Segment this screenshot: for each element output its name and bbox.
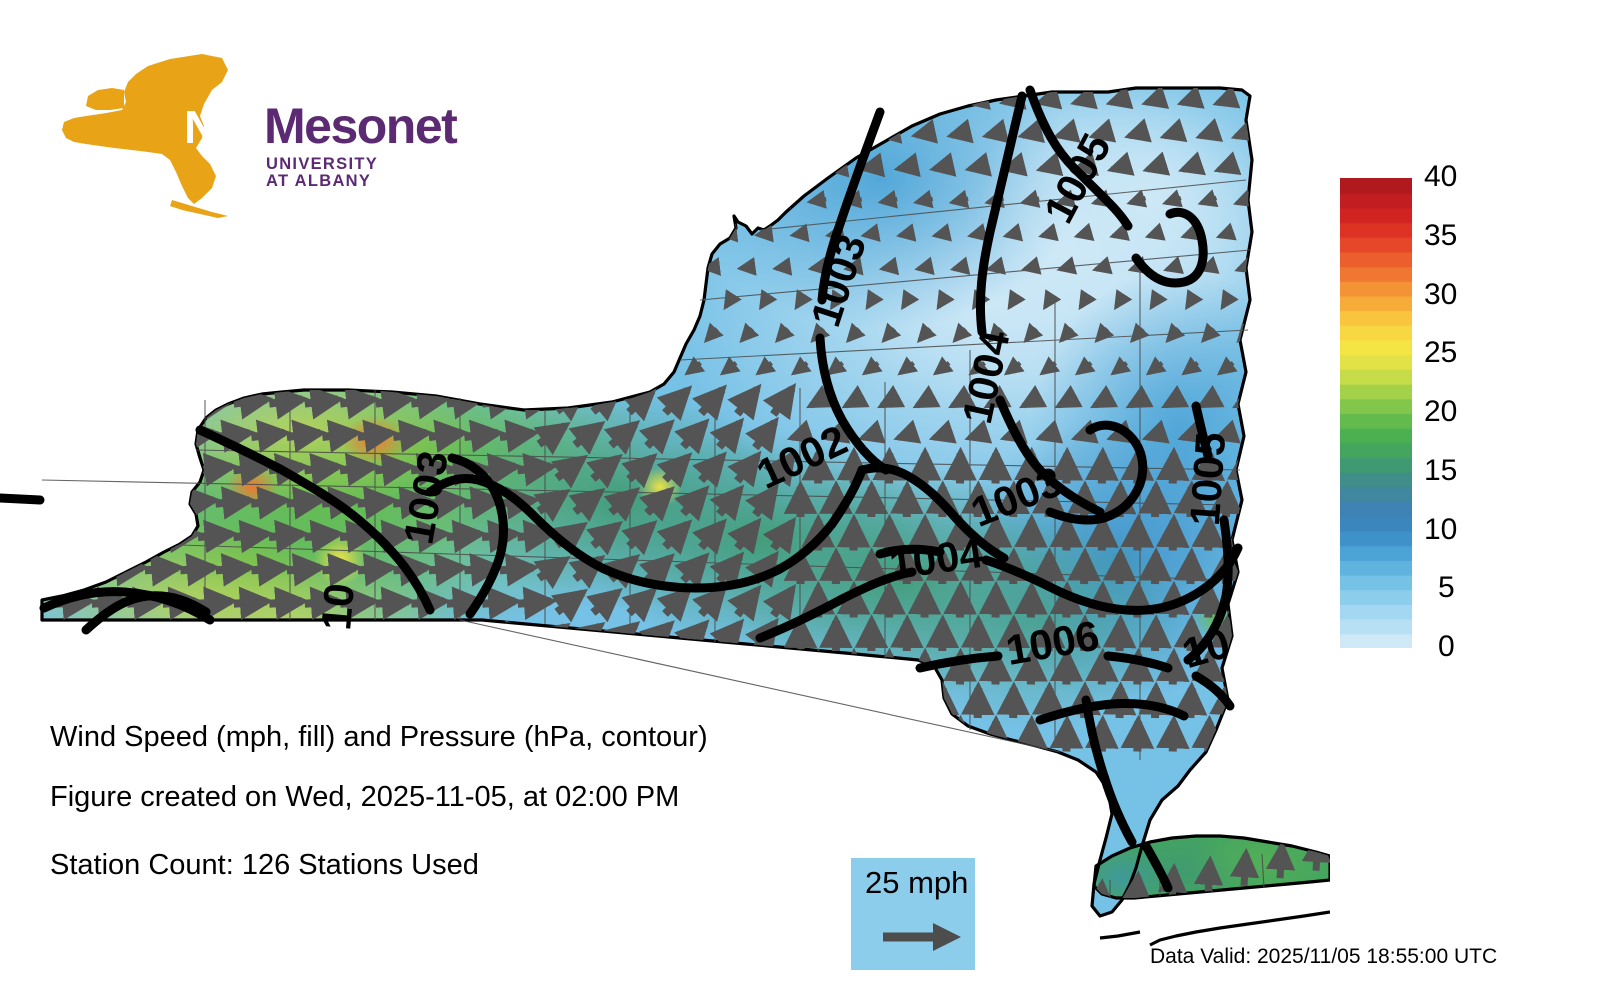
wind-arrow — [569, 195, 570, 206]
wind-arrow — [216, 635, 249, 637]
new-york-state-map: 1005100310041005100210031003101004100610 — [0, 0, 1330, 960]
wind-arrow — [413, 131, 443, 137]
wind-arrow — [1190, 688, 1191, 718]
wind-arrow — [1280, 846, 1282, 878]
wind-arrow — [110, 635, 143, 637]
wind-arrow — [518, 601, 551, 603]
wind-arrow — [287, 433, 320, 437]
wind-arrow — [359, 231, 390, 236]
wind-arrow — [271, 131, 301, 137]
wind-arrow — [323, 366, 356, 370]
wind-arrow — [1208, 588, 1209, 618]
wind-arrow — [667, 133, 686, 135]
wind-arrow — [129, 131, 159, 137]
wind-arrow — [883, 266, 897, 269]
wind-arrow — [704, 200, 720, 202]
wind-arrow — [655, 295, 663, 307]
wind-arrow — [56, 534, 90, 537]
wind-arrow — [181, 231, 212, 236]
wind-arrow — [448, 265, 480, 270]
wind-arrow — [164, 131, 194, 137]
wind-arrow — [918, 266, 932, 269]
wind-arrow — [1173, 655, 1174, 685]
wind-arrow — [252, 635, 285, 637]
wind-arrow — [1137, 722, 1138, 752]
wind-arrow — [791, 99, 811, 102]
wind-arrow — [252, 366, 285, 370]
wind-arrow — [127, 534, 161, 537]
wind-arrow — [519, 198, 550, 204]
wind-arrow — [305, 399, 338, 403]
wind-arrow — [793, 233, 808, 235]
wind-arrow — [519, 131, 549, 137]
wind-arrow — [1244, 454, 1245, 484]
wind-arrow — [218, 97, 248, 103]
wind-arrow — [483, 265, 515, 270]
colorbar-tick-20: 20 — [1424, 397, 1457, 427]
wind-arrow — [323, 702, 355, 704]
wind-arrow — [358, 568, 391, 571]
colorbar-tick-40: 40 — [1424, 162, 1457, 192]
wind-arrow — [287, 500, 321, 503]
wind-arrow — [518, 534, 552, 537]
wind-arrow — [288, 702, 320, 704]
wind-arrow — [74, 366, 107, 370]
wind-arrow — [545, 363, 558, 373]
wind-arrow — [900, 233, 915, 236]
wind-arrow — [584, 295, 592, 307]
wind-arrow — [464, 500, 498, 503]
wind-arrow — [685, 166, 702, 168]
wind-arrow — [996, 588, 997, 618]
wind-arrow — [164, 265, 196, 270]
wind-arrow — [376, 399, 409, 403]
wind-arrow — [651, 233, 666, 234]
wind-arrow — [75, 702, 107, 704]
wind-arrow — [1173, 722, 1174, 752]
wind-arrow — [376, 467, 410, 471]
wind-arrow — [147, 97, 177, 103]
wind-arrow — [989, 266, 1002, 269]
wind-arrow — [340, 534, 374, 537]
wind-arrow — [518, 669, 550, 671]
wind-arrow — [483, 198, 514, 204]
wind-arrow — [575, 693, 600, 713]
wind-arrow — [482, 467, 516, 471]
wind-arrow — [127, 467, 161, 471]
wind-arrow — [482, 601, 515, 603]
wind-arrow — [774, 132, 792, 135]
wind-arrow — [430, 164, 461, 170]
wind-arrow — [200, 131, 230, 137]
wind-arrow — [773, 724, 792, 750]
wind-arrow — [1208, 861, 1210, 893]
wind-arrow — [251, 568, 284, 571]
wind-arrow — [466, 97, 496, 103]
wind-arrow — [306, 265, 338, 270]
wind-arrow — [199, 669, 231, 671]
wind-arrow — [323, 635, 356, 637]
wind-arrow — [38, 568, 71, 571]
wind-arrow — [951, 131, 969, 135]
wind-arrow — [235, 198, 266, 204]
wind-arrow — [614, 166, 631, 167]
wind-arrow — [341, 198, 372, 204]
wind-arrow — [269, 399, 302, 403]
wind-arrow — [394, 231, 425, 236]
wind-arrow — [93, 131, 123, 137]
wind-arrow — [163, 399, 196, 403]
wind-arrow — [616, 363, 629, 373]
wind-arrow — [500, 366, 533, 370]
wind-arrow — [465, 702, 497, 704]
wind-arrow — [128, 265, 160, 270]
wind-arrow — [74, 500, 108, 503]
wind-arrow — [340, 399, 373, 403]
wind-arrow — [253, 97, 283, 103]
wind-arrow — [234, 669, 266, 671]
wind-arrow — [289, 97, 319, 103]
wind-arrow — [845, 132, 863, 135]
wind-arrow — [322, 433, 355, 437]
colorbar-tick-35: 35 — [1424, 221, 1457, 251]
wind-arrow — [412, 198, 443, 204]
wind-arrow — [987, 131, 1005, 135]
wind-arrow — [593, 659, 618, 679]
wind-arrow — [501, 231, 532, 236]
wind-arrow — [1155, 554, 1156, 584]
wind-arrow — [270, 198, 301, 204]
wind-arrow — [110, 366, 143, 370]
wind-arrow — [217, 231, 248, 236]
wind-arrow — [198, 399, 231, 403]
wind-arrow — [862, 98, 881, 102]
wind-arrow — [57, 332, 89, 337]
wind-arrow — [826, 98, 845, 101]
colorbar-tick-25: 25 — [1424, 338, 1457, 368]
wind-arrow — [342, 131, 372, 137]
wind-arrow — [1102, 722, 1103, 752]
wind-arrow — [755, 99, 775, 102]
wind-arrow — [935, 232, 950, 235]
wind-arrow — [518, 467, 552, 471]
wind-arrow — [776, 267, 790, 269]
wind-scale-legend: 25 mph — [851, 858, 975, 970]
wind-arrow — [40, 97, 70, 103]
wind-arrow — [1244, 722, 1245, 752]
wind-arrow — [395, 164, 426, 170]
wind-arrow — [251, 500, 285, 503]
wind-arrow — [58, 131, 88, 137]
wind-arrow — [358, 433, 391, 437]
wind-arrow — [634, 267, 648, 268]
wind-arrow — [464, 433, 497, 437]
wind-arrow — [288, 299, 320, 304]
wind-arrow — [145, 500, 179, 503]
wind-arrow — [483, 669, 515, 671]
wind-arrow — [600, 329, 611, 340]
wind-arrow — [75, 231, 106, 236]
wind-arrow — [773, 657, 792, 683]
wind-arrow — [684, 99, 704, 101]
wind-arrow — [287, 568, 320, 571]
wind-arrow — [181, 299, 213, 304]
wind-arrow — [611, 693, 635, 714]
wind-arrow — [359, 164, 390, 170]
wind-arrow — [57, 265, 89, 270]
wind-arrow — [127, 399, 160, 403]
figure-title-caption: Wind Speed (mph, fill) and Pressure (hPa… — [50, 723, 708, 752]
wind-arrow — [217, 299, 249, 304]
wind-arrow — [970, 165, 987, 169]
wind-arrow — [92, 467, 126, 471]
wind-arrow — [182, 164, 213, 170]
wind-arrow — [466, 164, 497, 170]
wind-arrow — [146, 164, 177, 170]
contour-label-10: 10 — [312, 581, 363, 632]
wind-arrow — [1049, 554, 1050, 584]
wind-arrow — [163, 332, 195, 337]
wind-arrow — [163, 669, 195, 671]
wind-arrow — [960, 722, 961, 752]
wind-arrow — [864, 233, 879, 236]
wind-arrow — [40, 164, 71, 170]
wind-arrow — [251, 433, 284, 437]
wind-scale-arrow-icon — [881, 920, 963, 954]
wind-arrow — [596, 133, 615, 134]
colorbar-tick-10: 10 — [1424, 515, 1457, 545]
wind-arrow — [740, 267, 754, 269]
wind-arrow — [1316, 839, 1318, 871]
wind-arrow — [465, 366, 498, 370]
wind-arrow — [305, 669, 337, 671]
wind-arrow — [465, 231, 496, 236]
wind-arrow — [305, 534, 339, 537]
wind-arrow — [580, 234, 595, 235]
wind-arrow — [569, 129, 572, 139]
wind-arrow — [38, 433, 71, 437]
wind-arrow — [74, 568, 107, 571]
wind-arrow — [447, 534, 481, 537]
wind-arrow — [429, 568, 462, 571]
wind-arrow — [360, 97, 390, 103]
wind-arrow — [146, 702, 178, 704]
wind-arrow — [465, 299, 497, 304]
wind-arrow — [146, 231, 177, 236]
wind-arrow — [341, 332, 373, 337]
wind-arrow — [56, 399, 89, 403]
wind-arrow — [111, 164, 142, 170]
wind-arrow — [501, 164, 532, 170]
wind-arrow — [39, 702, 71, 704]
wind-arrow — [252, 231, 283, 236]
wind-arrow — [341, 265, 373, 270]
wind-arrow — [109, 500, 143, 503]
wind-arrow — [235, 265, 267, 270]
wind-arrow — [92, 332, 124, 337]
wind-arrow — [597, 200, 613, 201]
wind-arrow — [539, 694, 565, 712]
wind-arrow — [287, 366, 320, 370]
wind-arrow — [395, 97, 425, 103]
wind-arrow — [1155, 487, 1156, 517]
wind-arrow — [181, 366, 214, 370]
wind-arrow — [128, 669, 160, 671]
wind-arrow — [216, 568, 249, 571]
wind-arrow — [288, 164, 319, 170]
wind-arrow — [430, 702, 462, 704]
wind-arrow — [110, 231, 141, 236]
wind-arrow — [619, 295, 627, 307]
wind-arrow — [652, 363, 665, 373]
wind-arrow — [270, 669, 302, 671]
wind-arrow — [253, 164, 284, 170]
wind-arrow — [412, 265, 444, 270]
wind-arrow — [690, 295, 698, 307]
wind-arrow — [671, 329, 682, 340]
wind-arrow — [359, 702, 391, 704]
colorbar-tick-labels: 4035302520151050 — [1424, 178, 1494, 648]
wind-arrow — [324, 164, 355, 170]
wind-arrow — [668, 200, 684, 202]
wind-arrow — [39, 299, 71, 304]
wind-arrow — [1244, 854, 1246, 886]
wind-arrow — [216, 366, 249, 370]
wind-arrow — [810, 199, 826, 202]
wind-arrow — [484, 131, 514, 137]
wind-arrow — [1173, 454, 1174, 484]
wind-arrow — [340, 467, 374, 471]
wind-arrow — [632, 133, 651, 135]
wind-arrow — [109, 433, 142, 437]
wind-arrow — [217, 164, 248, 170]
wind-arrow — [1013, 688, 1014, 718]
wind-arrow — [39, 231, 70, 236]
wind-arrow — [482, 534, 516, 537]
wind-arrow — [430, 299, 462, 304]
wind-arrow — [613, 99, 633, 101]
wind-arrow — [552, 162, 553, 172]
wind-arrow — [394, 635, 427, 637]
colorbar-tick-30: 30 — [1424, 280, 1457, 310]
wind-arrow — [164, 198, 195, 204]
wind-arrow — [145, 635, 178, 637]
wind-arrow — [270, 265, 302, 270]
wind-arrow — [412, 669, 444, 671]
wind-arrow — [394, 299, 426, 304]
wind-arrow — [252, 299, 284, 304]
wind-arrow — [978, 621, 979, 651]
wind-arrow — [1102, 521, 1103, 551]
colorbar-tick-0: 0 — [1438, 632, 1455, 662]
wind-arrow — [1120, 554, 1121, 584]
wind-arrow — [180, 568, 213, 571]
wind-arrow — [954, 266, 968, 269]
wind-arrow — [933, 98, 952, 102]
wind-arrow — [74, 433, 107, 437]
wind-scale-label: 25 mph — [865, 867, 968, 898]
wind-arrow — [897, 98, 916, 102]
wind-arrow — [448, 131, 478, 137]
wind-arrow — [501, 299, 533, 304]
colorbar-tick-15: 15 — [1424, 456, 1457, 486]
wind-arrow — [881, 199, 897, 202]
wind-arrow — [1031, 521, 1032, 551]
wind-arrow — [359, 299, 391, 304]
wind-arrow — [146, 299, 178, 304]
wind-arrow — [269, 534, 303, 537]
wind-arrow — [93, 198, 124, 204]
wind-arrow — [500, 433, 533, 437]
wind-arrow — [756, 166, 773, 168]
wind-arrow — [448, 198, 479, 204]
wind-arrow — [377, 265, 409, 270]
wind-arrow — [305, 332, 337, 337]
wind-arrow — [57, 669, 89, 671]
contour-label-1005: 1005 — [1181, 431, 1234, 527]
weather-map-figure: NYS Mesonet UNIVERSITY AT ALBANY — [0, 0, 1600, 1000]
station-count-caption: Station Count: 126 Stations Used — [50, 851, 479, 880]
wind-arrow — [687, 233, 702, 235]
wind-arrow — [76, 97, 106, 103]
wind-arrow — [899, 165, 916, 168]
wind-arrow — [145, 366, 178, 370]
wind-arrow — [93, 265, 125, 270]
wind-arrow — [758, 233, 773, 235]
wind-arrow — [234, 467, 268, 471]
wind-arrow — [737, 724, 757, 749]
wind-arrow — [39, 366, 72, 370]
wind-arrow — [198, 534, 232, 537]
wind-arrow — [925, 454, 926, 484]
wind-arrow — [234, 399, 267, 403]
wind-arrow — [960, 454, 961, 484]
wind-arrow — [358, 500, 392, 503]
wind-arrow — [1244, 655, 1245, 685]
wind-arrow — [92, 534, 126, 537]
wind-arrow — [934, 165, 951, 169]
wind-arrow — [393, 433, 426, 437]
wind-arrow — [550, 95, 554, 104]
wind-arrow — [633, 200, 649, 201]
wind-arrow — [394, 702, 426, 704]
wind-speed-colorbar — [1340, 178, 1412, 648]
wind-arrow — [270, 332, 302, 337]
wind-arrow — [128, 332, 160, 337]
wind-arrow — [739, 199, 755, 201]
wind-arrow — [465, 635, 498, 637]
wind-arrow — [109, 568, 142, 571]
wind-arrow — [234, 534, 268, 537]
wind-arrow — [447, 669, 479, 671]
wind-arrow — [598, 267, 612, 268]
wind-arrow — [199, 332, 231, 337]
wind-arrow — [217, 702, 249, 704]
wind-arrow — [128, 198, 159, 204]
wind-arrow — [1031, 588, 1032, 618]
wind-arrow — [1120, 621, 1121, 651]
wind-arrow — [581, 363, 594, 373]
wind-arrow — [649, 99, 669, 101]
wind-arrow — [322, 568, 355, 571]
wind-arrow — [56, 467, 90, 471]
wind-arrow — [198, 601, 231, 603]
wind-arrow — [199, 265, 231, 270]
wind-arrow — [1244, 521, 1245, 551]
wind-arrow — [792, 166, 809, 169]
wind-arrow — [755, 690, 774, 716]
wind-arrow — [567, 261, 572, 273]
